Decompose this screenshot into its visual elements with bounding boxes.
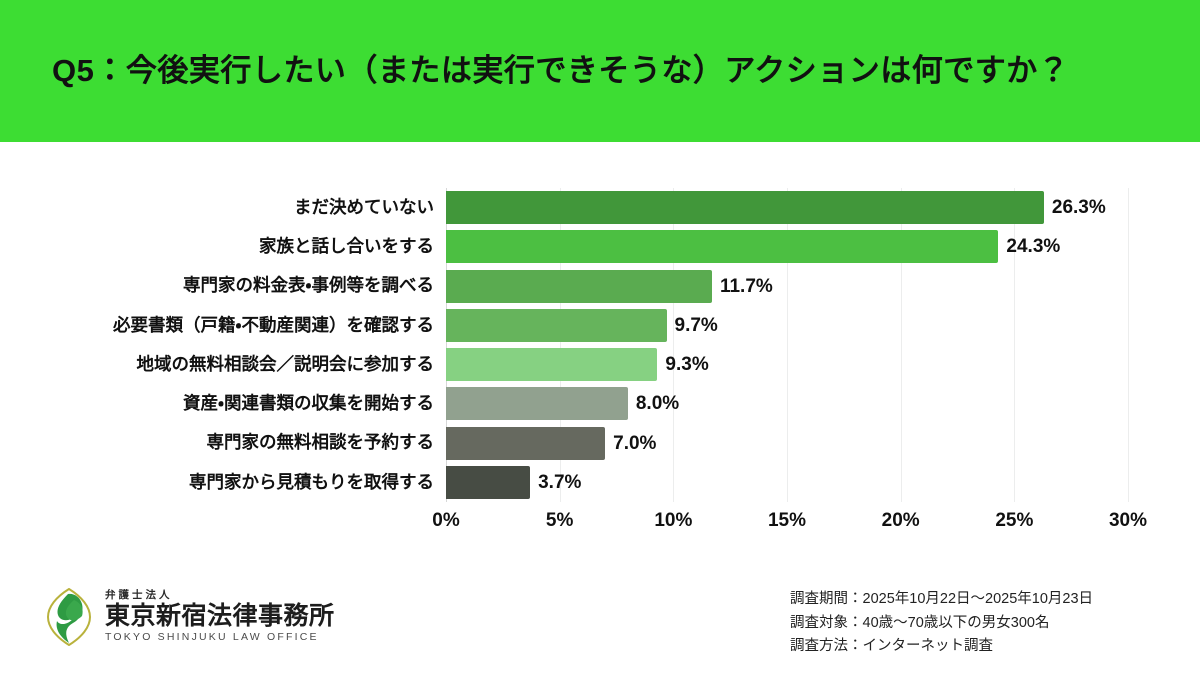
bar-row: 必要書類（戸籍・不動産関連）を確認する9.7% <box>446 306 1128 345</box>
bar <box>446 387 628 420</box>
logo-kana: 弁護士法人 <box>105 589 335 602</box>
bar <box>446 427 605 460</box>
bar-row: まだ決めていない26.3% <box>446 188 1128 227</box>
category-label: 地域の無料相談会／説明会に参加する <box>137 356 435 374</box>
bar-value-label: 9.7% <box>675 316 718 335</box>
bar <box>446 230 998 263</box>
bar-chart: まだ決めていない26.3%家族と話し合いをする24.3%専門家の料金表・事例等を… <box>0 160 1200 550</box>
bar <box>446 309 667 342</box>
logo-name: 東京新宿法律事務所 <box>105 602 335 631</box>
x-tick-label: 30% <box>1109 510 1147 532</box>
category-label: 家族と話し合いをする <box>259 238 434 256</box>
category-label: 専門家の料金表・事例等を調べる <box>183 277 434 295</box>
survey-metadata: 調査期間：2025年10月22日〜2025年10月23日 調査対象：40歳〜70… <box>790 590 1093 657</box>
bar <box>446 270 712 303</box>
bar-value-label: 7.0% <box>613 434 656 453</box>
category-label: 必要書類（戸籍・不動産関連）を確認する <box>113 317 434 335</box>
bar-value-label: 9.3% <box>665 355 708 374</box>
survey-method: 調査方法：インターネット調査 <box>790 637 1093 657</box>
bar <box>446 466 530 499</box>
bar-value-label: 26.3% <box>1052 198 1106 217</box>
bar-value-label: 24.3% <box>1006 237 1060 256</box>
x-axis-ticks: 0%5%10%15%20%25%30% <box>446 510 1128 540</box>
bar-rows: まだ決めていない26.3%家族と話し合いをする24.3%専門家の料金表・事例等を… <box>446 188 1128 502</box>
x-tick-label: 15% <box>768 510 806 532</box>
slide-root: Q5：今後実行したい（または実行できそうな）アクションは何ですか？ まだ決めてい… <box>0 0 1200 675</box>
gridline <box>1128 188 1129 502</box>
category-label: 専門家の無料相談を予約する <box>207 434 435 452</box>
plot-area: まだ決めていない26.3%家族と話し合いをする24.3%専門家の料金表・事例等を… <box>446 188 1128 502</box>
x-tick-label: 25% <box>995 510 1033 532</box>
bar-row: 専門家から見積もりを取得する3.7% <box>446 463 1128 502</box>
x-tick-label: 5% <box>546 510 573 532</box>
leaf-emblem-icon <box>44 588 94 646</box>
header-banner: Q5：今後実行したい（または実行できそうな）アクションは何ですか？ <box>0 0 1200 142</box>
bar <box>446 191 1044 224</box>
bar-row: 家族と話し合いをする24.3% <box>446 227 1128 266</box>
x-tick-label: 10% <box>654 510 692 532</box>
bar-value-label: 11.7% <box>720 277 773 296</box>
category-label: 資産・関連書類の収集を開始する <box>183 395 434 413</box>
logo-english-name: TOKYO SHINJUKU LAW OFFICE <box>105 631 335 645</box>
x-tick-label: 0% <box>432 510 459 532</box>
category-label: まだ決めていない <box>294 199 434 217</box>
bar-value-label: 3.7% <box>538 473 581 492</box>
bar <box>446 348 657 381</box>
bar-value-label: 8.0% <box>636 394 679 413</box>
bar-row: 資産・関連書類の収集を開始する8.0% <box>446 384 1128 423</box>
bar-row: 専門家の料金表・事例等を調べる11.7% <box>446 267 1128 306</box>
logo-text-block: 弁護士法人 東京新宿法律事務所 TOKYO SHINJUKU LAW OFFIC… <box>105 589 335 645</box>
x-tick-label: 20% <box>882 510 920 532</box>
page-title: Q5：今後実行したい（または実行できそうな）アクションは何ですか？ <box>0 52 1069 89</box>
survey-target: 調査対象：40歳〜70歳以下の男女300名 <box>790 614 1093 634</box>
category-label: 専門家から見積もりを取得する <box>189 474 434 492</box>
survey-period: 調査期間：2025年10月22日〜2025年10月23日 <box>790 590 1093 610</box>
bar-row: 専門家の無料相談を予約する7.0% <box>446 424 1128 463</box>
bar-row: 地域の無料相談会／説明会に参加する9.3% <box>446 345 1128 384</box>
company-logo: 弁護士法人 東京新宿法律事務所 TOKYO SHINJUKU LAW OFFIC… <box>44 588 335 646</box>
